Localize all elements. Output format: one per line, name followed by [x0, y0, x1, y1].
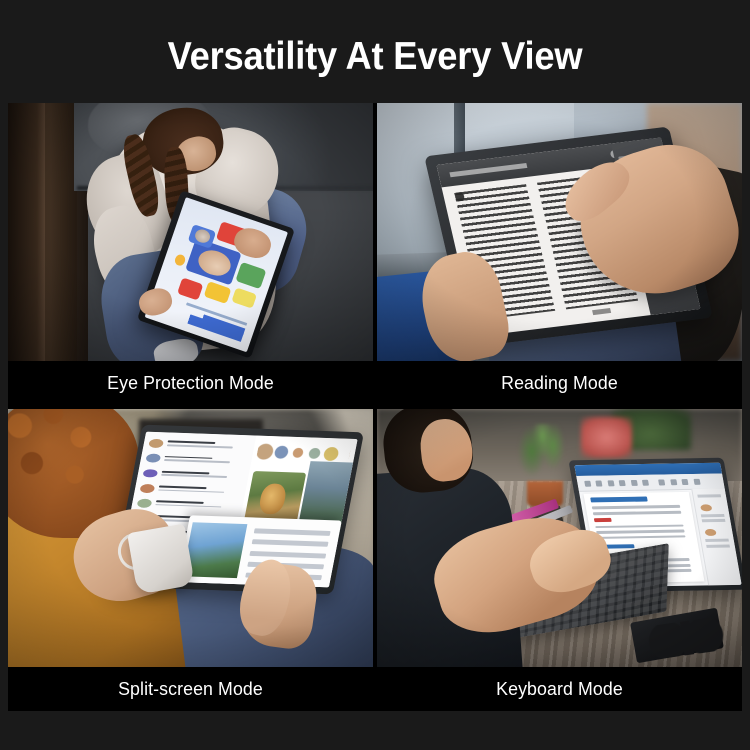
- feature-cell-eye-protection[interactable]: Eye Protection Mode: [8, 103, 373, 405]
- caption-reading-mode: Reading Mode: [384, 361, 734, 405]
- caption-split-screen-mode: Split-screen Mode: [15, 667, 365, 711]
- photo-vignette: [377, 103, 742, 361]
- feature-cell-reading[interactable]: Reading Mode: [377, 103, 742, 405]
- feature-grid: Eye Protection Mode: [8, 103, 742, 711]
- feature-cell-keyboard[interactable]: Keyboard Mode: [377, 409, 742, 711]
- page-title: Versatility At Every View: [26, 33, 724, 81]
- promo-page: Versatility At Every View: [0, 0, 750, 750]
- photo-reading-mode: [377, 103, 742, 361]
- photo-keyboard-mode: [377, 409, 742, 667]
- feature-cell-split-screen[interactable]: Split-screen Mode: [8, 409, 373, 711]
- caption-keyboard-mode: Keyboard Mode: [384, 667, 734, 711]
- photo-vignette: [8, 409, 373, 667]
- photo-vignette: [377, 409, 742, 667]
- photo-vignette: [8, 103, 373, 361]
- caption-eye-protection-mode: Eye Protection Mode: [15, 361, 365, 405]
- photo-split-screen-mode: [8, 409, 373, 667]
- photo-eye-protection-mode: [8, 103, 373, 361]
